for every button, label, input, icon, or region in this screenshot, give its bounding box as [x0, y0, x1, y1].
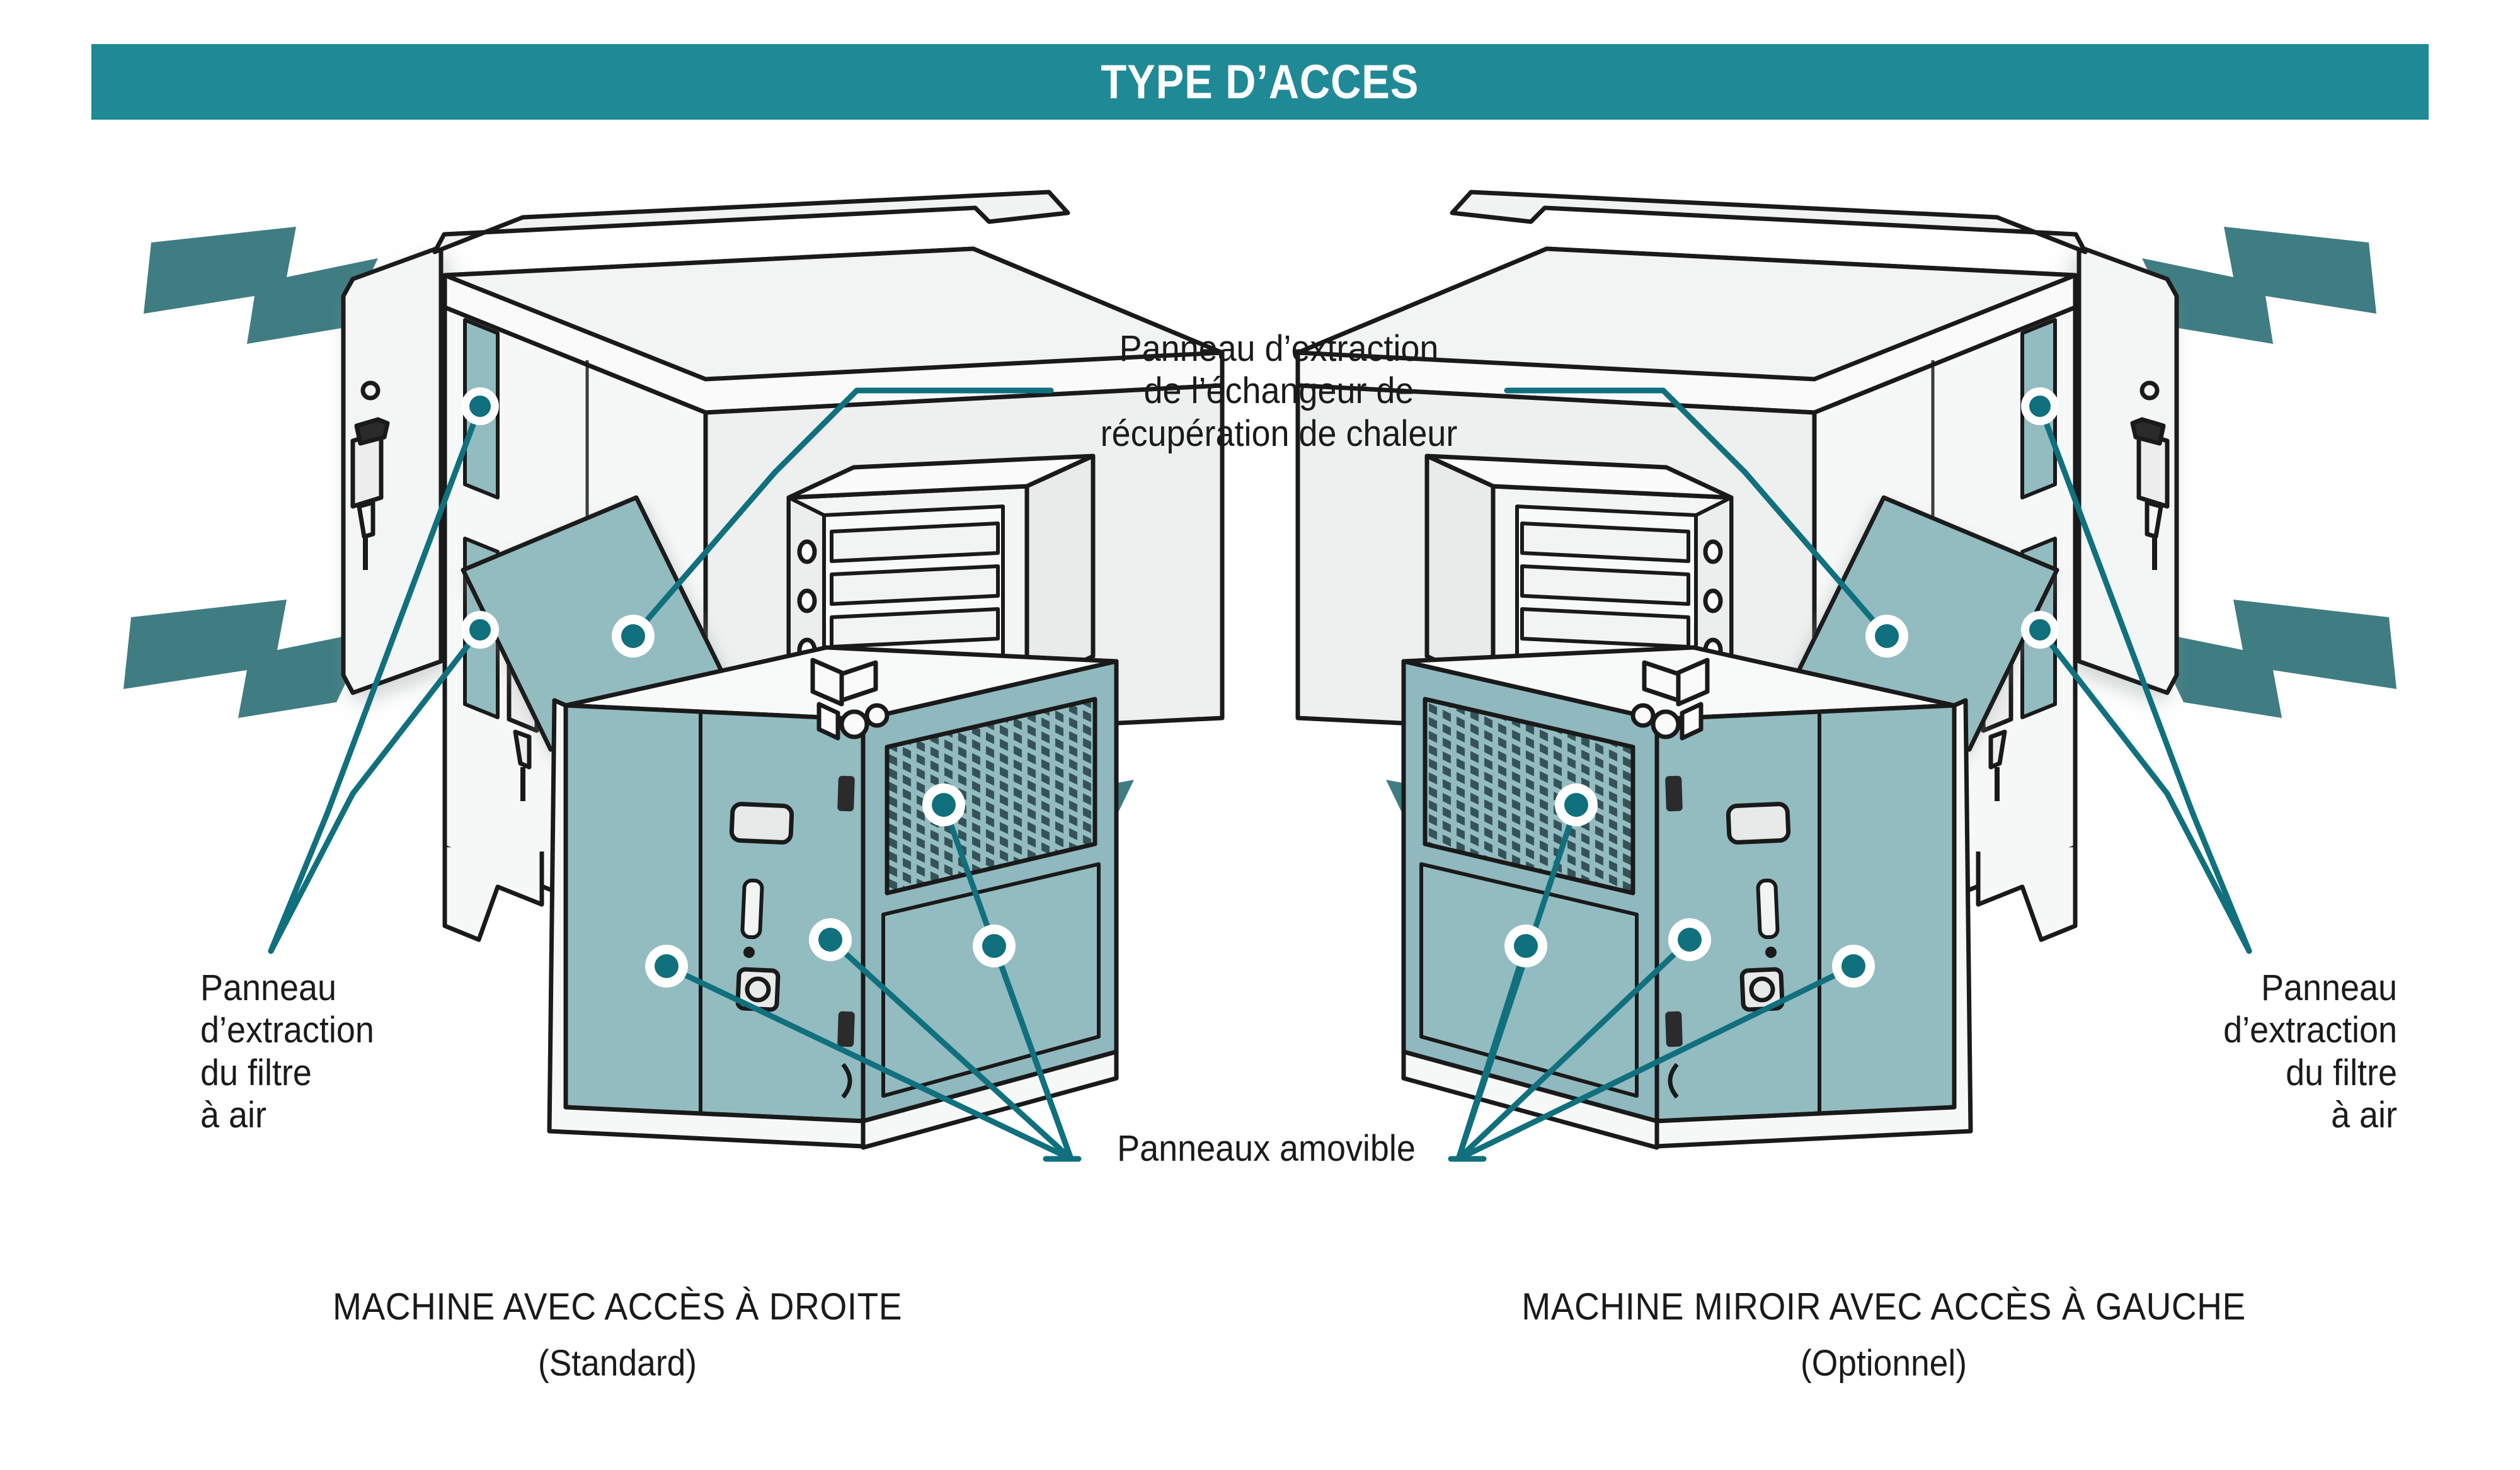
- leader-dot-icon: [922, 783, 965, 826]
- leader-dot-icon: [612, 615, 655, 658]
- door-slot-icon: [742, 880, 762, 937]
- leader-dot-icon: [645, 945, 688, 988]
- callout-air-filter-extraction-panel-right: Panneau d’extraction du filtre à air: [2116, 967, 2397, 1136]
- door-slot-icon: [1758, 880, 1778, 937]
- bolt-hole-icon: [799, 591, 815, 611]
- leader-dot-icon: [973, 925, 1016, 967]
- caption-title: MACHINE MIROIR AVEC ACCÈS À GAUCHE: [1414, 1285, 2353, 1328]
- roof-flange: [435, 192, 1068, 252]
- caption-subtitle: (Optionnel): [1414, 1342, 2353, 1384]
- caption-title: MACHINE AVEC ACCÈS À DROITE: [154, 1285, 1081, 1328]
- caption-subtitle: (Standard): [154, 1342, 1081, 1384]
- door-handle-icon[interactable]: [1728, 804, 1789, 843]
- door-handle-icon[interactable]: [731, 804, 792, 843]
- machine-leg-icon: [445, 847, 542, 940]
- caption-machine-left-access: MACHINE MIROIR AVEC ACCÈS À GAUCHE (Opti…: [1373, 1285, 2394, 1384]
- leader-dot-icon: [2021, 387, 2059, 425]
- leader-dot-icon: [461, 387, 499, 425]
- bolt-hole-icon: [1705, 591, 1721, 611]
- leader-dot-icon: [1832, 945, 1875, 988]
- leader-dot-icon: [1865, 615, 1908, 658]
- leader-dot-icon: [2021, 611, 2059, 649]
- removable-panel-door-left[interactable]: [1657, 705, 1954, 1121]
- indicator-dot-icon: [1765, 947, 1777, 958]
- callout-air-filter-extraction-panel-left: Panneau d’extraction du filtre à air: [200, 967, 481, 1136]
- roof-flange: [1452, 192, 2085, 252]
- callout-heat-exchanger-extraction-panel: Panneau d’extraction de l’échangeur de r…: [1074, 328, 1484, 455]
- leader-dot-icon: [461, 611, 499, 649]
- callout-removable-panels: Panneaux amovible: [1099, 1127, 1433, 1170]
- leader-dot-icon: [1668, 918, 1711, 961]
- bolt-hole-icon: [1705, 542, 1721, 562]
- indicator-dot-icon: [743, 947, 755, 958]
- leader-dot-icon: [809, 918, 852, 961]
- machines-illustration: [0, 0, 2520, 1470]
- machine-leg-icon: [1978, 847, 2075, 940]
- bolt-hole-icon: [799, 542, 815, 562]
- removable-panel-door-left[interactable]: [566, 705, 863, 1121]
- diagram-canvas: TYPE D’ACCES: [0, 0, 2520, 1470]
- caption-machine-right-access: MACHINE AVEC ACCÈS À DROITE (Standard): [113, 1285, 1121, 1384]
- leader-dot-icon: [1555, 783, 1598, 826]
- leader-dot-icon: [1504, 925, 1547, 967]
